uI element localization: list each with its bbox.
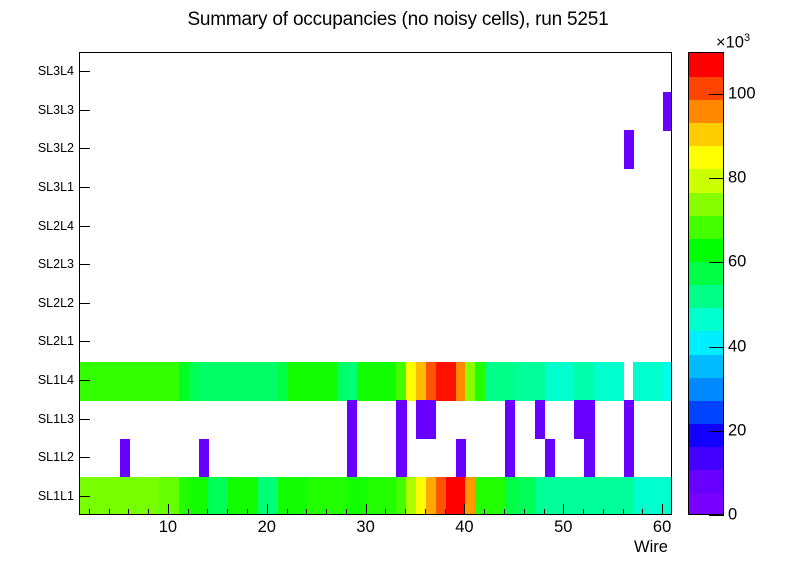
x-axis-major-tick xyxy=(267,504,268,515)
color-bar-band xyxy=(689,215,723,239)
y-axis-tick xyxy=(79,148,90,149)
heatmap-cell xyxy=(189,362,199,401)
x-axis-minor-tick xyxy=(287,509,288,515)
heatmap-cell xyxy=(456,439,466,478)
heatmap-cell xyxy=(357,362,367,401)
x-axis-title: Wire xyxy=(634,538,668,557)
heatmap-cell xyxy=(386,362,396,401)
x-axis-minor-tick xyxy=(642,509,643,515)
y-axis-label-sl3l1: SL3L1 xyxy=(38,180,74,194)
heatmap-cell xyxy=(406,362,416,401)
heatmap-cell xyxy=(505,362,515,401)
page-title: Summary of occupancies (no noisy cells),… xyxy=(0,9,796,31)
x-axis-minor-tick xyxy=(306,509,307,515)
color-bar-band xyxy=(689,169,723,193)
heatmap-cell xyxy=(614,362,624,401)
y-axis-label-sl3l2: SL3L2 xyxy=(38,141,74,155)
x-axis-label-30: 30 xyxy=(356,518,374,537)
heatmap-cell xyxy=(208,362,218,401)
heatmap-cell xyxy=(90,362,100,401)
y-axis-tick xyxy=(79,110,90,111)
heatmap-cell xyxy=(535,362,545,401)
color-bar-tick xyxy=(709,262,724,263)
x-axis-major-tick xyxy=(168,504,169,515)
x-axis-minor-tick xyxy=(524,509,525,515)
heatmap-cell xyxy=(367,362,377,401)
heatmap-cell xyxy=(485,362,495,401)
color-bar-axis-line xyxy=(723,52,724,516)
heatmap-cell xyxy=(624,130,634,169)
color-bar-label-0: 0 xyxy=(728,506,737,525)
color-bar-band xyxy=(689,76,723,100)
x-axis-minor-tick xyxy=(583,509,584,515)
heatmap-cell xyxy=(169,362,179,401)
color-bar-label-20: 20 xyxy=(728,421,746,440)
y-axis-tick xyxy=(79,226,90,227)
color-bar-band xyxy=(689,261,723,285)
x-axis-minor-tick xyxy=(385,509,386,515)
y-axis-label-sl2l1: SL2L1 xyxy=(38,334,74,348)
heatmap-cell xyxy=(465,477,475,515)
y-axis-tick xyxy=(79,341,90,342)
y-axis-tick xyxy=(79,457,90,458)
color-bar-band xyxy=(689,331,723,355)
color-bar-label-100: 100 xyxy=(728,85,756,104)
color-bar-band xyxy=(689,238,723,262)
heatmap-cell xyxy=(633,362,643,401)
heatmap-cell xyxy=(624,400,634,439)
color-bar-band xyxy=(689,99,723,123)
x-axis-minor-tick xyxy=(425,509,426,515)
color-bar-band xyxy=(689,308,723,332)
color-bar-band xyxy=(689,377,723,401)
x-axis-major-tick xyxy=(563,504,564,515)
heatmap-cell xyxy=(426,362,436,401)
heatmap-cell xyxy=(426,477,436,515)
y-axis-label-sl1l1: SL1L1 xyxy=(38,489,74,503)
color-bar-band xyxy=(689,423,723,447)
heatmap-cell xyxy=(663,477,672,515)
color-bar-band xyxy=(689,400,723,424)
color-bar-tick xyxy=(709,347,724,348)
heatmap-cell xyxy=(574,362,584,401)
heatmap-cell xyxy=(554,362,564,401)
root-canvas: Summary of occupancies (no noisy cells),… xyxy=(0,0,796,572)
color-bar-band xyxy=(689,493,723,515)
heatmap-cell xyxy=(337,362,347,401)
color-bar-band xyxy=(689,447,723,471)
heatmap-cell xyxy=(406,477,416,515)
heatmap-cell xyxy=(238,362,248,401)
exponent-power: 3 xyxy=(744,32,750,44)
y-axis-tick xyxy=(79,419,90,420)
heatmap-cell xyxy=(505,400,515,439)
heatmap-cell xyxy=(199,439,209,478)
plot-frame xyxy=(79,52,672,515)
heatmap-cell xyxy=(485,477,495,515)
x-axis-minor-tick xyxy=(504,509,505,515)
color-bar-tick xyxy=(709,94,724,95)
heatmap-cell xyxy=(189,477,199,515)
heatmap-cell xyxy=(149,362,159,401)
heatmap-cell xyxy=(386,477,396,515)
heatmap-cell xyxy=(396,400,406,439)
y-axis-tick xyxy=(79,187,90,188)
y-axis-label-sl2l2: SL2L2 xyxy=(38,296,74,310)
heatmap-cells xyxy=(80,53,671,514)
heatmap-cell xyxy=(505,477,515,515)
y-axis-tick xyxy=(79,380,90,381)
heatmap-cell xyxy=(446,477,456,515)
heatmap-cell xyxy=(396,439,406,478)
heatmap-cell xyxy=(584,439,594,478)
color-bar-band xyxy=(689,146,723,170)
x-axis-minor-tick xyxy=(326,509,327,515)
heatmap-cell xyxy=(663,362,672,401)
x-axis-label-40: 40 xyxy=(455,518,473,537)
heatmap-cell xyxy=(505,439,515,478)
heatmap-cell xyxy=(317,362,327,401)
x-axis-label-10: 10 xyxy=(159,518,177,537)
color-bar-label-40: 40 xyxy=(728,337,746,356)
color-bar-band xyxy=(689,53,723,77)
heatmap-cell xyxy=(129,362,139,401)
y-axis-label-sl3l3: SL3L3 xyxy=(38,103,74,117)
color-bar-band xyxy=(689,122,723,146)
color-bar-band xyxy=(689,354,723,378)
x-axis-minor-tick xyxy=(544,509,545,515)
x-axis-minor-tick xyxy=(247,509,248,515)
color-bar-tick xyxy=(709,515,724,516)
y-axis-tick xyxy=(79,264,90,265)
heatmap-cell xyxy=(258,362,268,401)
x-axis-minor-tick xyxy=(346,509,347,515)
x-axis-major-tick xyxy=(366,504,367,515)
heatmap-cell xyxy=(110,477,120,515)
heatmap-cell xyxy=(653,362,663,401)
x-axis-minor-tick xyxy=(148,509,149,515)
x-axis-minor-tick xyxy=(623,509,624,515)
x-axis-label-60: 60 xyxy=(653,518,671,537)
y-axis-label-sl2l3: SL2L3 xyxy=(38,257,74,271)
heatmap-cell xyxy=(545,439,555,478)
exponent-base: ×10 xyxy=(716,34,744,52)
x-axis-minor-tick xyxy=(188,509,189,515)
heatmap-cell xyxy=(149,477,159,515)
y-axis-tick xyxy=(79,496,90,497)
heatmap-cell xyxy=(347,400,357,439)
heatmap-cell xyxy=(110,362,120,401)
color-bar-band xyxy=(689,285,723,309)
x-axis-label-20: 20 xyxy=(258,518,276,537)
y-axis-tick xyxy=(79,303,90,304)
heatmap-cell xyxy=(535,400,545,439)
y-axis-tick xyxy=(79,71,90,72)
x-axis-major-tick xyxy=(662,504,663,515)
x-axis-minor-tick xyxy=(89,509,90,515)
heatmap-cell xyxy=(594,362,604,401)
color-bar-label-60: 60 xyxy=(728,253,746,272)
heatmap-cell xyxy=(278,362,288,401)
color-bar-band xyxy=(689,470,723,494)
x-axis-minor-tick xyxy=(227,509,228,515)
x-axis-minor-tick xyxy=(405,509,406,515)
heatmap-cell xyxy=(169,477,179,515)
heatmap-cell xyxy=(208,477,218,515)
heatmap-cell xyxy=(120,439,130,478)
heatmap-cell xyxy=(446,362,456,401)
x-axis-minor-tick xyxy=(109,509,110,515)
x-axis-minor-tick xyxy=(484,509,485,515)
heatmap-cell xyxy=(297,362,307,401)
color-bar-label-80: 80 xyxy=(728,169,746,188)
heatmap-cell xyxy=(663,92,672,131)
heatmap-cell xyxy=(515,362,525,401)
x-axis-minor-tick xyxy=(603,509,604,515)
y-axis-label-sl1l4: SL1L4 xyxy=(38,373,74,387)
y-axis-label-sl1l2: SL1L2 xyxy=(38,450,74,464)
heatmap-cell xyxy=(218,362,228,401)
y-axis-label-sl1l3: SL1L3 xyxy=(38,412,74,426)
heatmap-cell xyxy=(90,477,100,515)
heatmap-cell xyxy=(347,439,357,478)
heatmap-cell xyxy=(129,477,139,515)
heatmap-cell xyxy=(465,362,475,401)
color-bar-tick xyxy=(709,431,724,432)
x-axis-minor-tick xyxy=(128,509,129,515)
heatmap-cell xyxy=(624,439,634,478)
heatmap-cell xyxy=(584,400,594,439)
heatmap-cell xyxy=(574,400,584,439)
color-bar xyxy=(688,52,724,515)
x-axis-major-tick xyxy=(464,504,465,515)
heatmap-cell xyxy=(367,477,377,515)
x-axis-minor-tick xyxy=(207,509,208,515)
x-axis-minor-tick xyxy=(445,509,446,515)
y-axis-label-sl2l4: SL2L4 xyxy=(38,219,74,233)
y-axis-label-sl3l4: SL3L4 xyxy=(38,64,74,78)
color-bar-band xyxy=(689,192,723,216)
color-bar-tick xyxy=(709,178,724,179)
x-axis-label-50: 50 xyxy=(554,518,572,537)
color-bar-exponent: ×103 xyxy=(716,32,750,53)
heatmap-cell xyxy=(426,400,436,439)
